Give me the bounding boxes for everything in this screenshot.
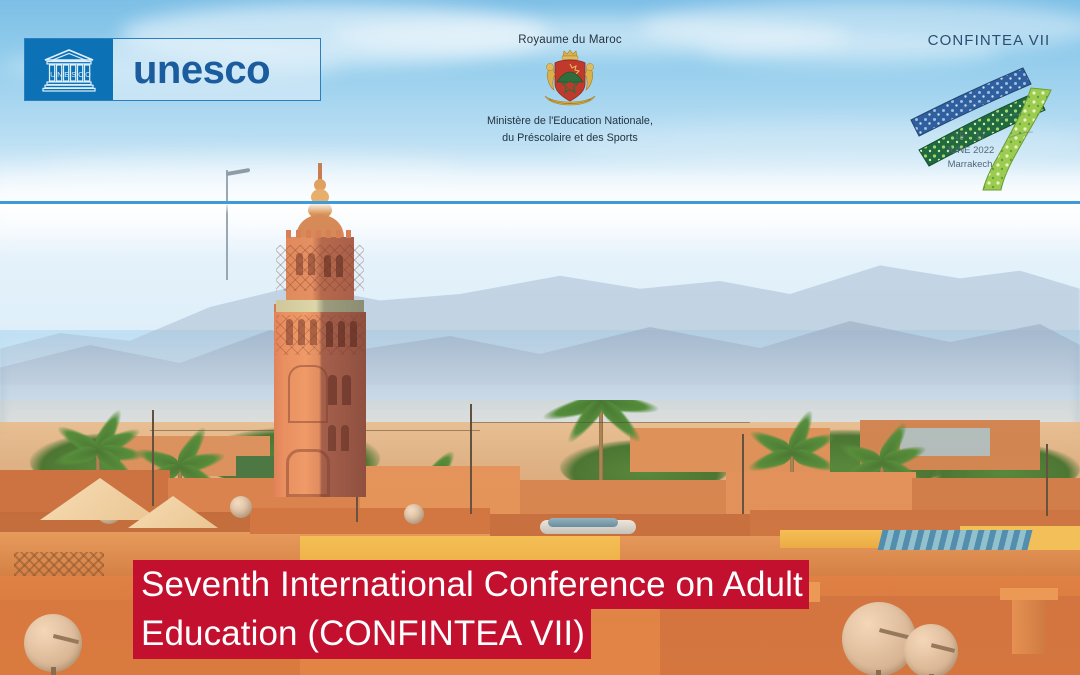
banner-title-line-2: Education (CONFINTEA VII) (133, 609, 591, 658)
confintea-seven-ribbons (905, 54, 1073, 192)
kingdom-label: Royaume du Maroc (455, 34, 685, 46)
street-lamp (226, 170, 228, 280)
svg-text:O: O (85, 72, 91, 79)
banner-title: Seventh International Conference on Adul… (133, 560, 809, 659)
confintea-date-block: 15 – 17 JUNE 2022 Marrakech (933, 130, 1007, 171)
ministry-label-line2: du Préscolaire et des Sports (455, 131, 685, 146)
svg-text:C: C (78, 72, 83, 79)
banner-image: U N E S C O unesco Royaume du Maroc (0, 0, 1080, 675)
morocco-coat-of-arms (455, 48, 685, 112)
confintea-title: CONFINTEA VII (905, 32, 1073, 49)
svg-text:S: S (71, 72, 76, 79)
ministry-label-line1: Ministère de l'Education Nationale, (455, 114, 685, 129)
confintea-month-year: JUNE 2022 (933, 144, 1007, 158)
header-divider-line (0, 201, 1080, 204)
svg-text:N: N (57, 72, 62, 79)
morocco-ministry-logo[interactable]: Royaume du Maroc (455, 34, 685, 152)
divider-glow (0, 204, 1080, 214)
confintea-dates: 15 – 17 (933, 130, 1007, 144)
svg-text:E: E (64, 72, 69, 79)
unesco-temple-emblem: U N E S C O (25, 39, 113, 100)
banner-title-line-1: Seventh International Conference on Adul… (133, 560, 809, 609)
unesco-wordmark: unesco (113, 39, 320, 100)
confintea-vii-logo[interactable]: CONFINTEA VII (905, 32, 1073, 192)
svg-text:U: U (50, 72, 55, 79)
confintea-city: Marrakech (933, 158, 1007, 172)
unesco-logo[interactable]: U N E S C O unesco (24, 38, 321, 101)
